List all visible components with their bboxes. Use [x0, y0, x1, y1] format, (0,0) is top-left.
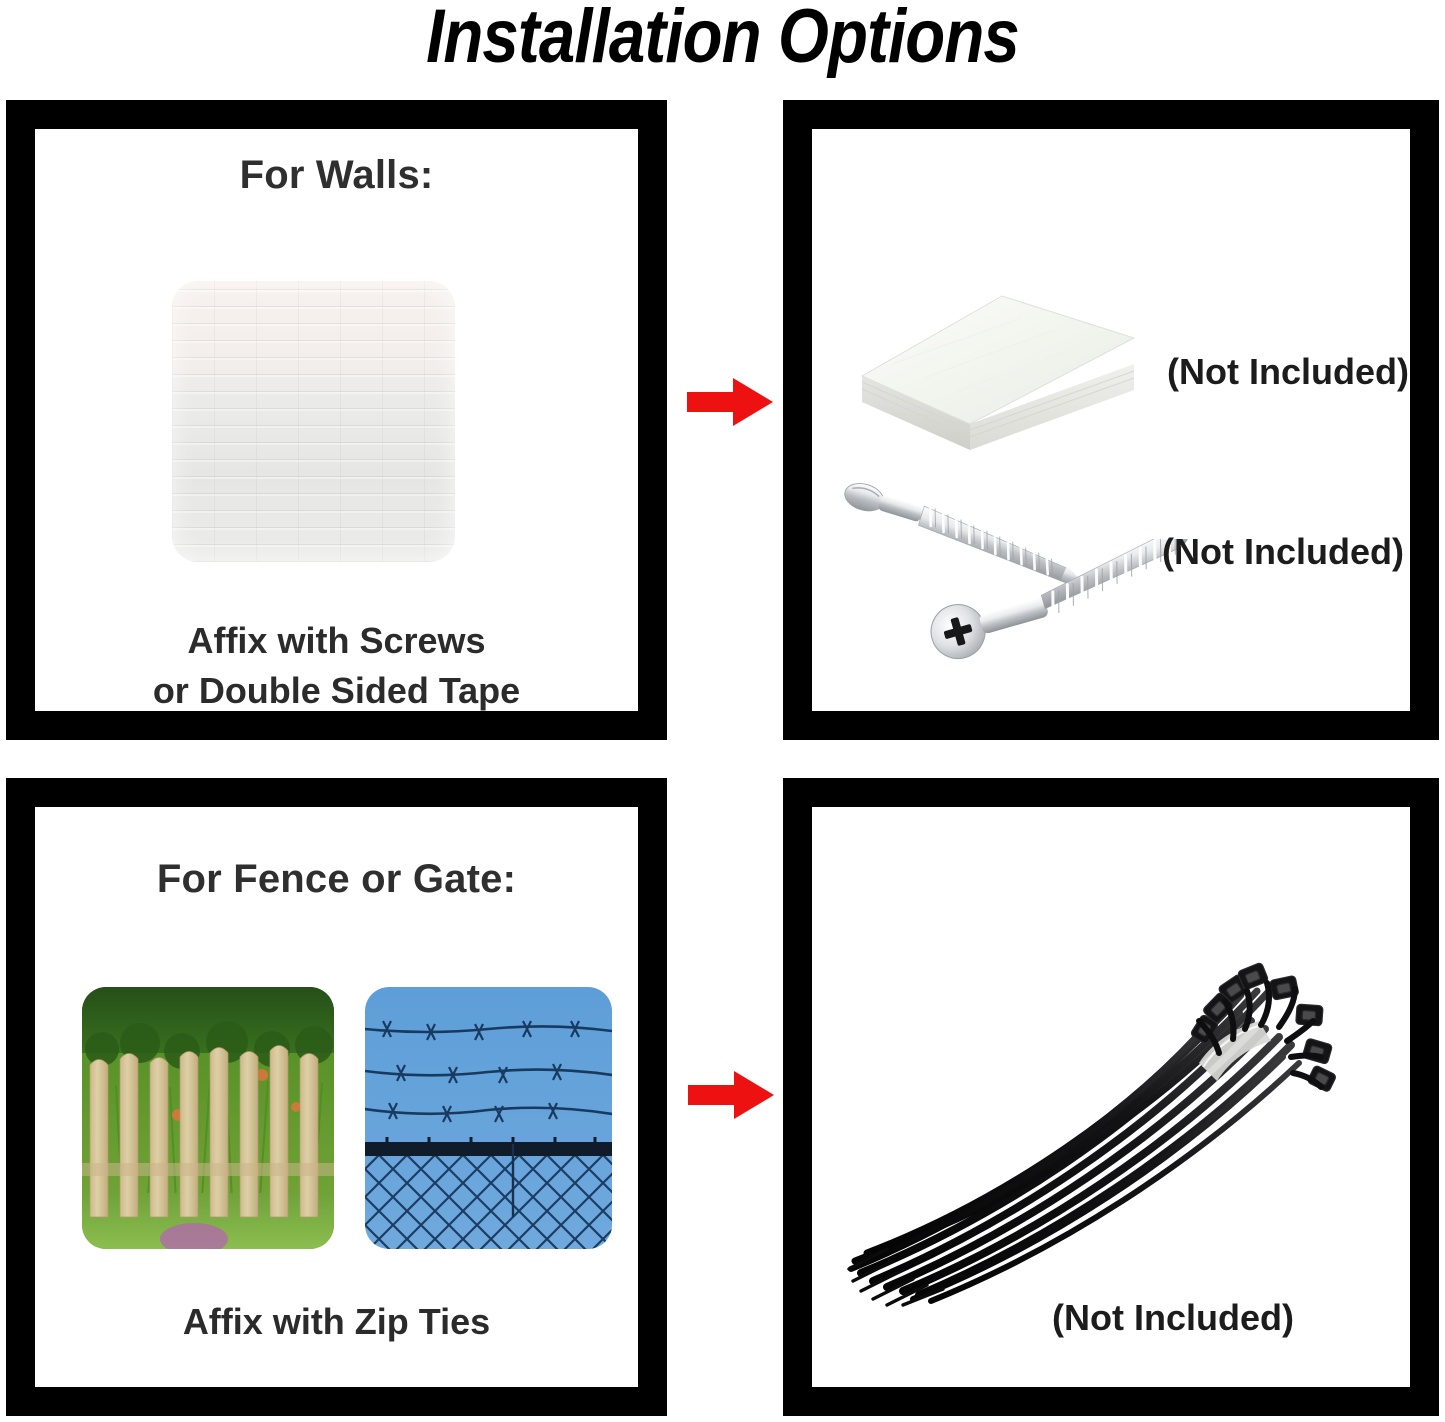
for-fence-caption: Affix with Zip Ties	[35, 1297, 638, 1347]
for-walls-heading: For Walls:	[35, 153, 638, 198]
black-zip-ties-bundle	[847, 917, 1367, 1307]
for-walls-caption-line-1: Affix with Screws	[35, 616, 638, 666]
double-sided-tape-stack	[852, 264, 1162, 454]
panel-for-fence-or-gate: For Fence or Gate:	[6, 778, 667, 1416]
panel-for-fence-or-gate-content: For Fence or Gate:	[35, 807, 638, 1387]
panel-for-walls-content: For Walls: Affix with Screws or Double S…	[35, 129, 638, 711]
chain-link-barbed-wire-fence-photo	[365, 987, 612, 1249]
panel-for-walls: For Walls: Affix with Screws or Double S…	[6, 100, 667, 740]
red-arrow-right-icon	[687, 377, 773, 427]
panel-wall-hardware: (Not Included)	[783, 100, 1439, 740]
red-arrow-right-icon	[688, 1070, 774, 1120]
for-fence-heading: For Fence or Gate:	[35, 857, 638, 902]
for-walls-caption-line-2: or Double Sided Tape	[35, 666, 638, 711]
panel-fence-hardware-content: (Not Included)	[812, 807, 1410, 1387]
zip-ties-not-included-label: (Not Included)	[1052, 1297, 1294, 1339]
page-title: Installation Options	[101, 0, 1344, 78]
panel-wall-hardware-content: (Not Included)	[812, 129, 1410, 711]
for-walls-caption: Affix with Screws or Double Sided Tape	[35, 616, 638, 711]
white-brick-wall-swatch	[172, 281, 455, 562]
panel-fence-hardware: (Not Included)	[783, 778, 1439, 1416]
tape-not-included-label: (Not Included)	[1167, 351, 1409, 393]
for-fence-caption-line-1: Affix with Zip Ties	[35, 1297, 638, 1347]
screws-not-included-label: (Not Included)	[1162, 531, 1404, 573]
wooden-picket-fence-photo	[82, 987, 334, 1249]
